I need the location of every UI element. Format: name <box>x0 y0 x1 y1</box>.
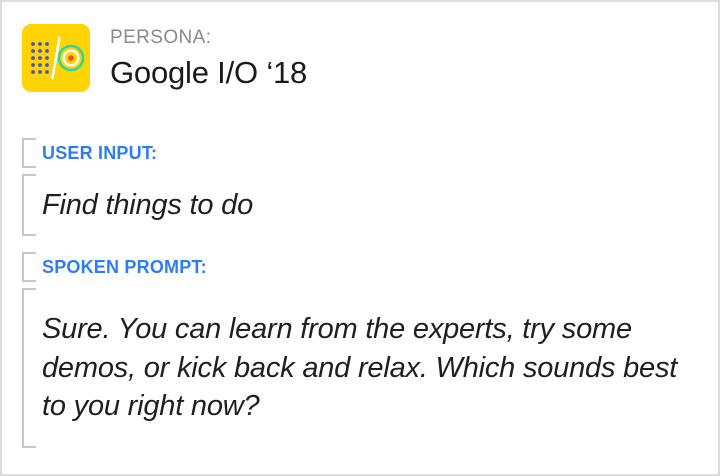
persona-text-group: PERSONA: Google I/O ‘18 <box>110 24 307 92</box>
google-io-logo-icon <box>22 24 90 92</box>
spoken-prompt-body-bracket-group: Sure. You can learn from the experts, tr… <box>22 288 698 448</box>
bracket-icon <box>22 252 36 282</box>
spoken-prompt-kicker: SPOKEN PROMPT: <box>42 258 207 276</box>
user-input-body: Find things to do <box>42 186 253 225</box>
bracket-icon <box>22 288 36 448</box>
persona-label: PERSONA: <box>110 26 307 50</box>
section-user-input: USER INPUT: Find things to do <box>22 138 698 236</box>
persona-header: PERSONA: Google I/O ‘18 <box>22 24 307 92</box>
persona-dialogue-card: PERSONA: Google I/O ‘18 USER INPUT: Find… <box>0 0 720 476</box>
user-input-kicker-bracket-group: USER INPUT: <box>22 138 698 168</box>
user-input-body-bracket-group: Find things to do <box>22 174 698 236</box>
section-spoken-prompt: SPOKEN PROMPT: Sure. You can learn from … <box>22 252 698 448</box>
bracket-icon <box>22 138 36 168</box>
spoken-prompt-body: Sure. You can learn from the experts, tr… <box>42 310 697 427</box>
persona-title: Google I/O ‘18 <box>110 54 307 92</box>
user-input-kicker: USER INPUT: <box>42 144 157 162</box>
spoken-prompt-kicker-bracket-group: SPOKEN PROMPT: <box>22 252 698 282</box>
bracket-icon <box>22 174 36 236</box>
